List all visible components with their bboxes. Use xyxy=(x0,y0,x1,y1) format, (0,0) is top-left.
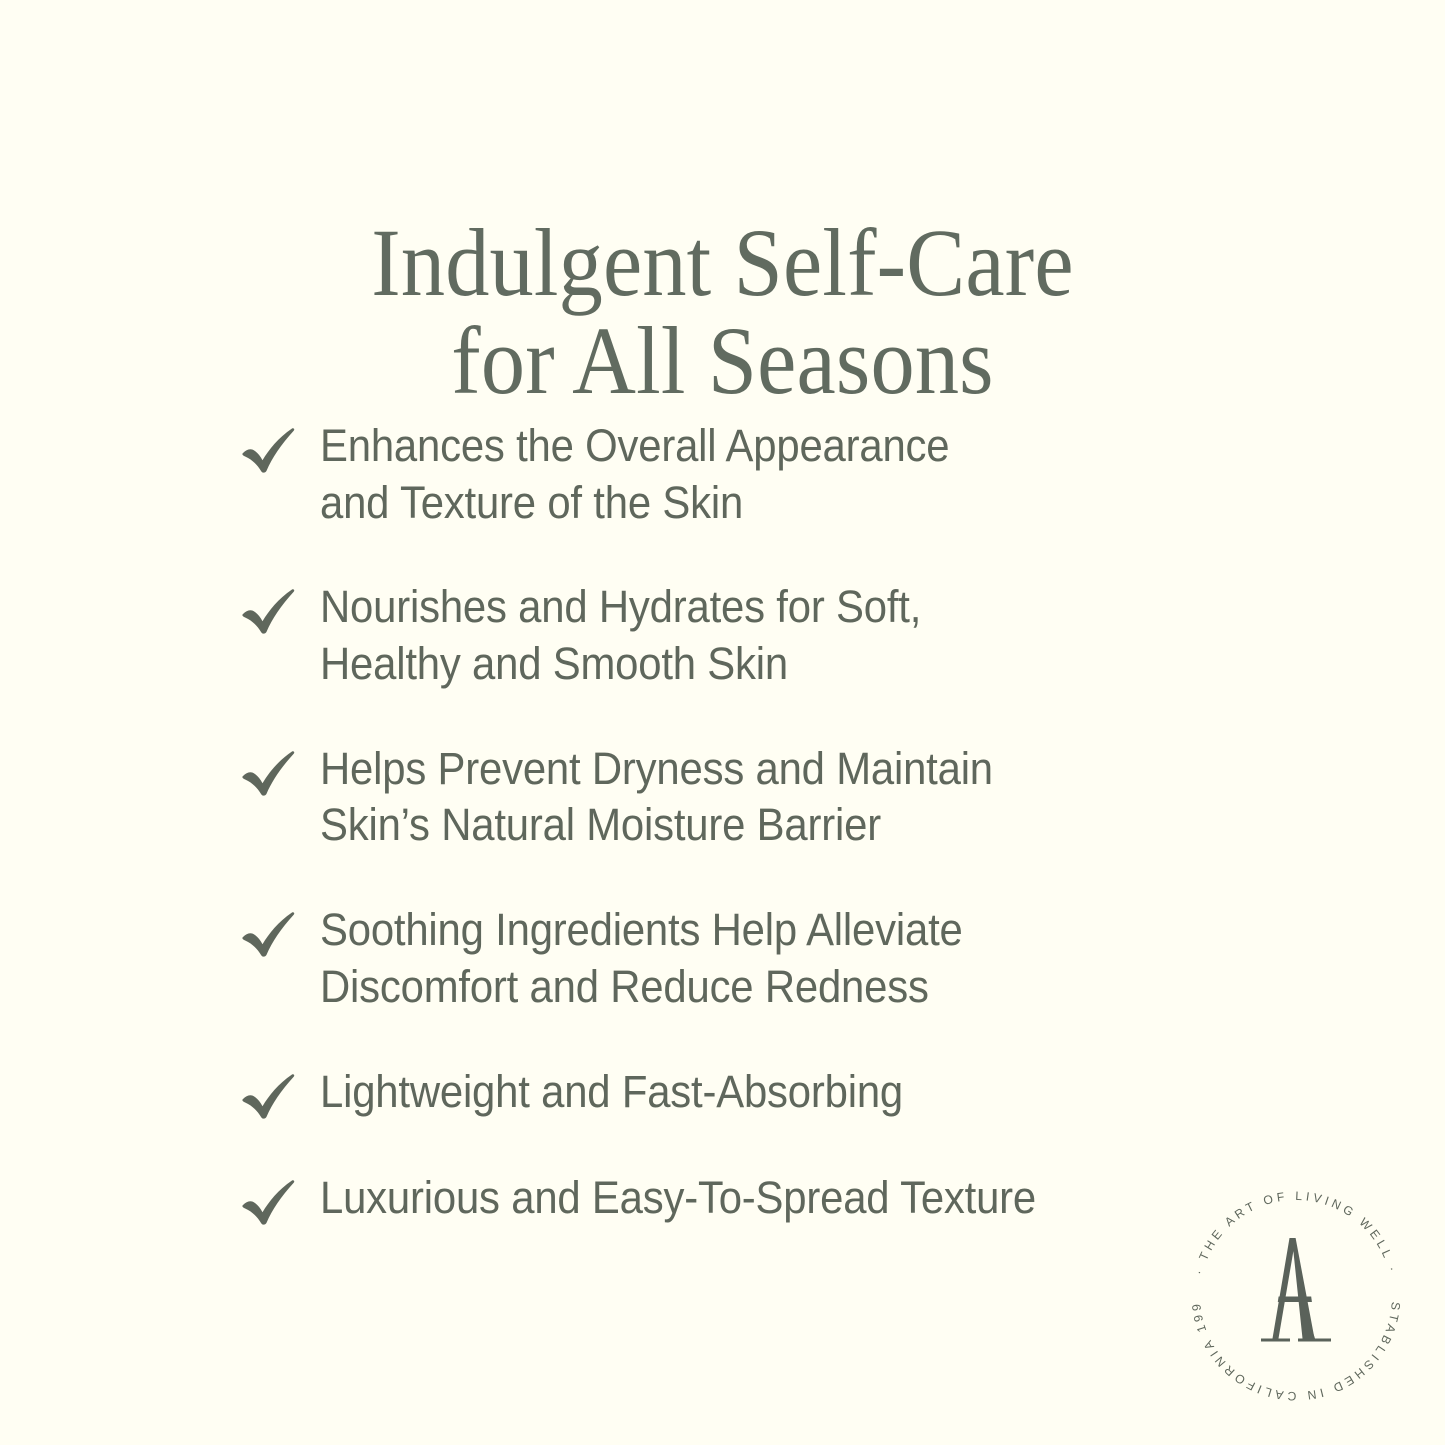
seal-bottom-arc-text: ESTABLISHED IN CALIFORNIA 1998 xyxy=(1178,1178,1403,1403)
list-item-label: Nourishes and Hydrates for Soft, Healthy… xyxy=(320,579,921,692)
list-item: Lightweight and Fast-Absorbing xyxy=(240,1064,1200,1122)
list-item-label: Lightweight and Fast-Absorbing xyxy=(320,1064,903,1121)
benefits-list: Enhances the Overall Appearance and Text… xyxy=(240,418,1200,1228)
list-item: Nourishes and Hydrates for Soft, Healthy… xyxy=(240,579,1200,692)
list-item-label: Enhances the Overall Appearance and Text… xyxy=(320,418,949,531)
brand-seal: · THE ART OF LIVING WELL · ESTABLISHED I… xyxy=(1178,1178,1414,1414)
seal-monogram xyxy=(1261,1238,1331,1342)
page-title: Indulgent Self-Care for All Seasons xyxy=(58,214,1387,410)
list-item: Helps Prevent Dryness and Maintain Skin’… xyxy=(240,741,1200,854)
check-icon xyxy=(240,1072,298,1122)
list-item-label: Luxurious and Easy-To-Spread Texture xyxy=(320,1170,1036,1227)
check-icon xyxy=(240,587,298,637)
list-item-label: Soothing Ingredients Help Alleviate Disc… xyxy=(320,902,963,1015)
check-icon xyxy=(240,426,298,476)
check-icon xyxy=(240,1178,298,1228)
check-icon xyxy=(240,749,298,799)
list-item: Luxurious and Easy-To-Spread Texture xyxy=(240,1170,1200,1228)
page-title-line-2: for All Seasons xyxy=(58,312,1387,410)
list-item: Soothing Ingredients Help Alleviate Disc… xyxy=(240,902,1200,1015)
list-item-label: Helps Prevent Dryness and Maintain Skin’… xyxy=(320,741,993,854)
page-title-line-1: Indulgent Self-Care xyxy=(58,214,1387,312)
list-item: Enhances the Overall Appearance and Text… xyxy=(240,418,1200,531)
promo-poster: Indulgent Self-Care for All Seasons Enha… xyxy=(0,0,1445,1445)
check-icon xyxy=(240,910,298,960)
